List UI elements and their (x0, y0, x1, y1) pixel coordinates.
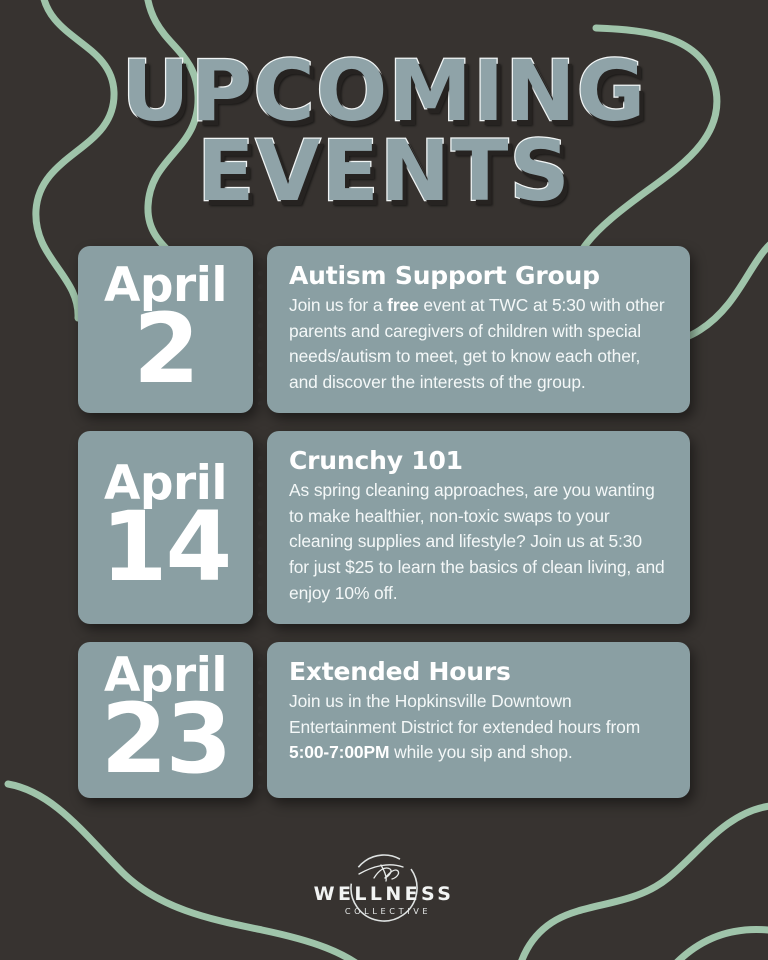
ticket-date-stub: April14 (78, 431, 253, 624)
perforation-dots (258, 254, 263, 405)
logo-secondary-word: COLLECTIVE (345, 906, 431, 916)
event-description: Join us in the Hopkinsville Downtown Ent… (289, 689, 666, 766)
perforation-dots (258, 650, 263, 789)
event-title: Autism Support Group (289, 262, 666, 290)
ticket-body: Autism Support GroupJoin us for a free e… (267, 246, 690, 413)
event-day: 14 (101, 503, 231, 591)
event-description-text: while you sip and shop. (389, 742, 572, 762)
page-title: UPCOMING EVENTS (0, 52, 768, 210)
event-title: Extended Hours (289, 658, 666, 686)
perforation-divider (253, 642, 267, 797)
event-title: Crunchy 101 (289, 447, 666, 475)
title-line-2: EVENTS (0, 132, 768, 210)
ticket-body: Crunchy 101As spring cleaning approaches… (267, 431, 690, 624)
event-ticket[interactable]: April2Autism Support GroupJoin us for a … (78, 246, 690, 413)
ticket-date-stub: April2 (78, 246, 253, 413)
event-day: 23 (101, 695, 231, 783)
perforation-divider (253, 431, 267, 624)
events-list: April2Autism Support GroupJoin us for a … (78, 246, 690, 816)
squiggle-bottom-right-inner (668, 929, 768, 960)
event-description: As spring cleaning approaches, are you w… (289, 478, 666, 606)
logo-primary-word: WELLNESS (314, 883, 455, 905)
ticket-body: Extended HoursJoin us in the Hopkinsvill… (267, 642, 690, 797)
title-line-1: UPCOMING (0, 52, 768, 130)
event-description: Join us for a free event at TWC at 5:30 … (289, 293, 666, 395)
wellness-collective-logo-icon: WELLNESS COLLECTIVE (289, 848, 479, 934)
ticket-date-stub: April23 (78, 642, 253, 797)
event-ticket[interactable]: April14Crunchy 101As spring cleaning app… (78, 431, 690, 624)
event-description-text: Join us in the Hopkinsville Downtown Ent… (289, 691, 640, 737)
event-description-text: As spring cleaning approaches, are you w… (289, 480, 665, 602)
brand-logo: WELLNESS COLLECTIVE (0, 848, 768, 934)
event-description-emphasis: 5:00-7:00PM (289, 742, 389, 762)
event-description-emphasis: free (387, 295, 419, 315)
event-description-text: Join us for a (289, 295, 387, 315)
event-day: 2 (133, 305, 198, 393)
event-ticket[interactable]: April23Extended HoursJoin us in the Hopk… (78, 642, 690, 797)
poster-canvas: UPCOMING EVENTS April2Autism Support Gro… (0, 0, 768, 960)
perforation-dots (258, 439, 263, 616)
perforation-divider (253, 246, 267, 413)
